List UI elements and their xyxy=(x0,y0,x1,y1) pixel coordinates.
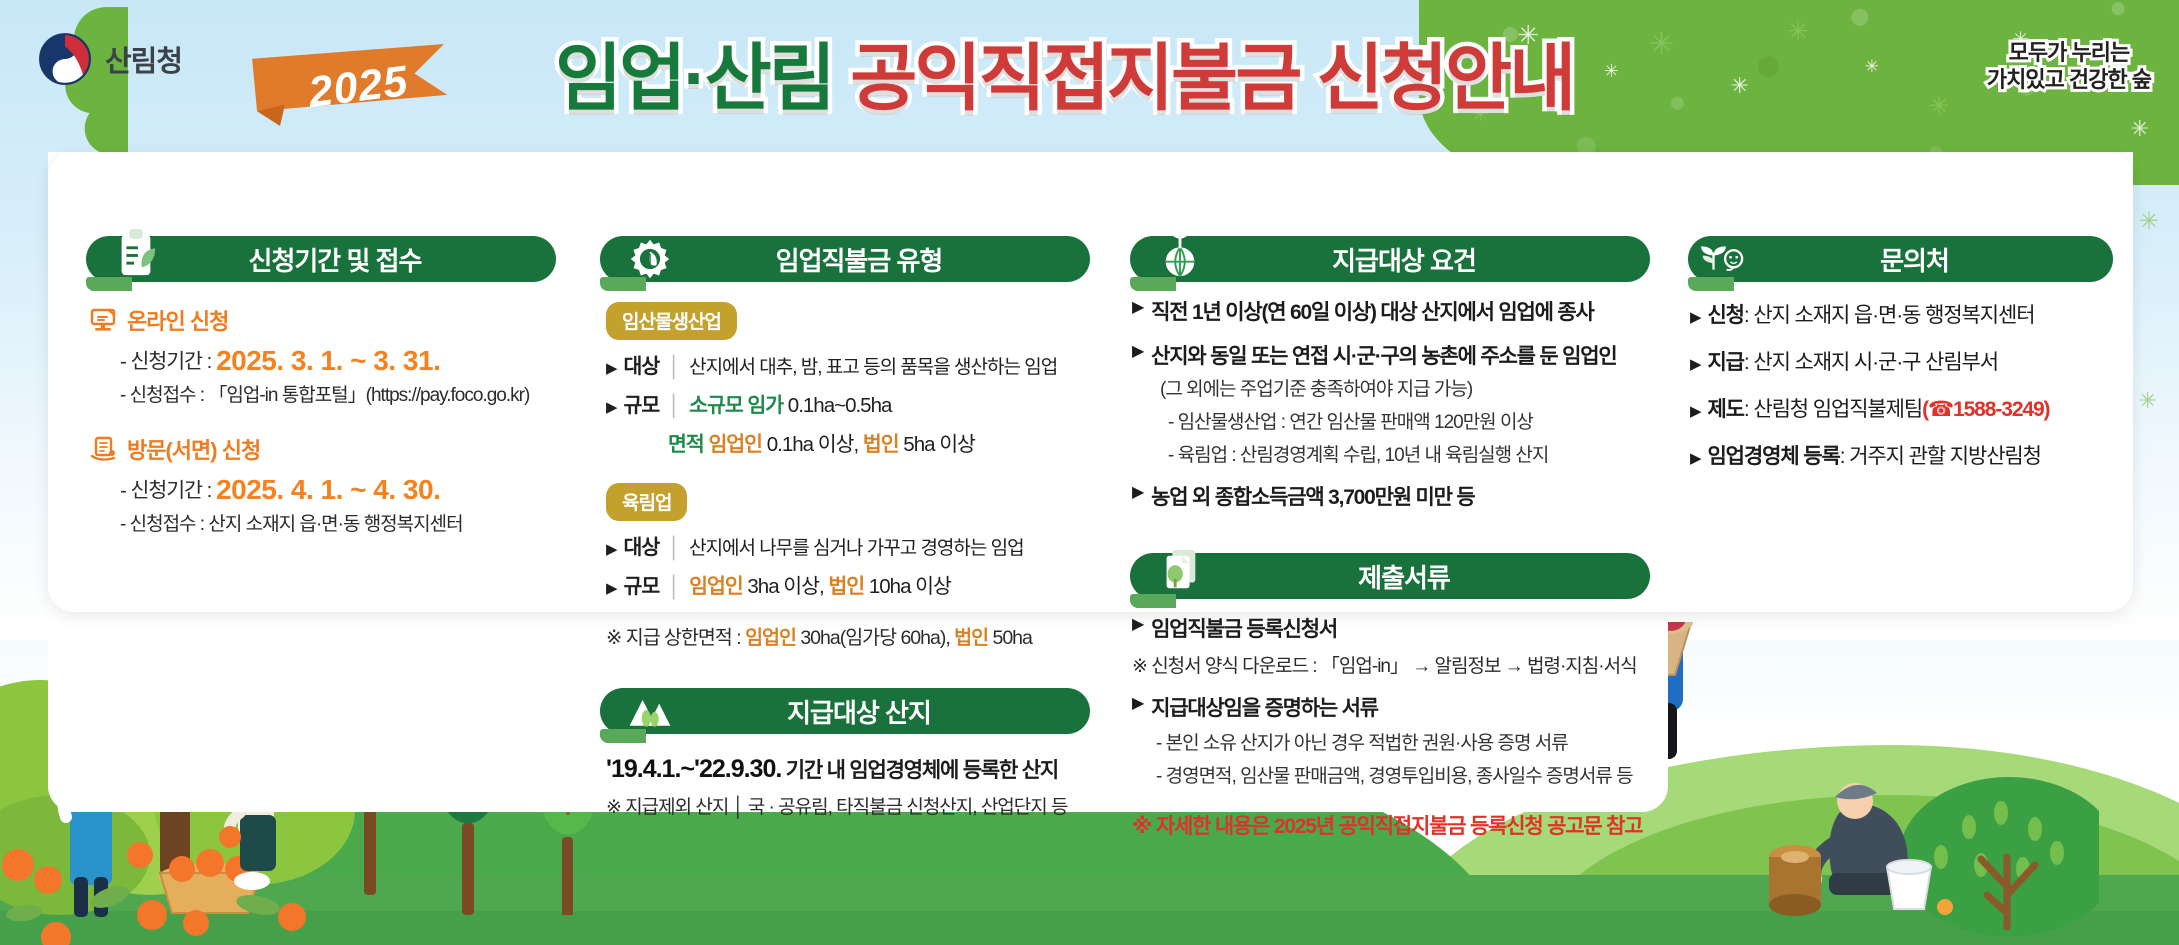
apply-visit-label: 방문(서면) 신청 xyxy=(127,433,260,465)
triangle-bullet-icon: ▶ xyxy=(1690,402,1700,420)
eligibility-item-3-text: 농업 외 종합소득금액 3,700만원 미만 등 xyxy=(1151,481,1474,511)
types-g2-scale-rest2: 10ha 이상 xyxy=(869,569,951,599)
contact-system-phone[interactable]: (☎1588-3249) xyxy=(1922,397,2049,422)
apply-visit-heading: 방문(서면) 신청 xyxy=(90,433,556,465)
section-apply-banner: 신청기간 및 접수 xyxy=(86,236,556,282)
contact-row-apply: ▶ 신청 : 산지 소재지 읍·면·동 행정복지센터 xyxy=(1690,299,2113,329)
banner-tab xyxy=(1130,594,1176,608)
triangle-bullet-icon: ▶ xyxy=(606,540,617,558)
banner-tab xyxy=(86,277,132,291)
types-footnote-prefix: ※ 지급 상한면적 : xyxy=(606,627,741,649)
section-contact-banner: 문의처 xyxy=(1688,236,2113,282)
apply-online-receipt-label: - 신청접수 : xyxy=(120,385,204,406)
eligibility-sub-note: (그 외에는 주업기준 충족하여야 지급 가능) xyxy=(1160,374,1650,401)
types-g2-scale-em1: 임업인 xyxy=(689,569,743,599)
types-g2-target: ▶ 대상 │ 산지에서 나무를 심거나 가꾸고 경영하는 임업 xyxy=(606,530,1090,560)
types-g1-target-value: 산지에서 대추, 밤, 표고 등의 품목을 생산하는 임업 xyxy=(689,352,1057,379)
types-g1-area: 면적 임업인 0.1ha 이상, 법인 5ha 이상 xyxy=(668,427,1090,457)
contact-row-registration: ▶ 임업경영체 등록 : 거주지 관할 지방산림청 xyxy=(1690,440,2113,470)
mountain-trees-icon xyxy=(626,678,674,736)
types-footnote: ※ 지급 상한면적 : 임업인 30ha(임가당 60ha), 법인 50ha xyxy=(606,621,1090,650)
documents-item-1-text: 임업직불금 등록신청서 xyxy=(1151,613,1337,643)
types-g1-scale-em1: 소규모 임가 xyxy=(689,388,783,418)
contact-system-label: 제도 xyxy=(1707,393,1743,423)
log-stump xyxy=(1769,845,1821,916)
eligibility-dash-2: - 육림업 : 산림경영계획 수립, 10년 내 육림실행 산지 xyxy=(1168,440,1650,467)
sprout-headset-icon xyxy=(1698,226,1746,284)
documents-dash-1: - 본인 소유 산지가 아닌 경우 적법한 권원·사용 증명 서류 xyxy=(1156,728,1650,755)
poster-root: ✳ ✳ ✳ ✳ ✳ ✳ ✳ ✳ ✳ ✳ ✳ ✳ ✳ ✳ ✳ ✳ ✳ ✳ xyxy=(0,0,2179,945)
types-g1-scale-label: 규모 xyxy=(624,388,660,418)
eligibility-item-1: ▶ 직전 1년 이상(연 60일 이상) 대상 산지에서 임업에 종사 xyxy=(1132,296,1650,326)
types-g2-target-label: 대상 xyxy=(624,530,660,560)
contact-apply-value: : 산지 소재지 읍·면·동 행정복지센터 xyxy=(1744,299,2035,329)
apply-online-receipt: - 신청접수 : 「임업-in 통합포털」(https://pay.foco.g… xyxy=(120,380,556,407)
contact-row-payment: ▶ 지급 : 산지 소재지 시·군·구 산림부서 xyxy=(1690,346,2113,376)
section-types-banner: 임업직불금 유형 xyxy=(600,236,1090,282)
section-apply-title: 신청기간 및 접수 xyxy=(221,241,422,278)
apply-online-period: - 신청기간 : 2025. 3. 1. ~ 3. 31. xyxy=(120,344,556,377)
triangle-bullet-icon: ▶ xyxy=(1690,449,1700,467)
land-date-tail: 기간 내 임업경영체에 등록한 산지 xyxy=(786,759,1058,782)
documents-item-2-text: 지급대상임을 증명하는 서류 xyxy=(1151,692,1378,722)
eligibility-item-1-text: 직전 1년 이상(연 60일 이상) 대상 산지에서 임업에 종사 xyxy=(1151,296,1594,326)
contact-row-system: ▶ 제도 : 산림청 임업직불제팀 (☎1588-3249) xyxy=(1690,393,2113,423)
eligibility-item-2-text: 산지와 동일 또는 연접 시·군·구의 농촌에 주소를 둔 임업인 xyxy=(1151,340,1616,370)
slogan: 모두가 누리는 가치있고 건강한 숲 xyxy=(1987,40,2151,94)
eligibility-dash-1: - 임산물생산업 : 연간 임산물 판매액 120만원 이상 xyxy=(1168,407,1650,434)
types-g2-scale-label: 규모 xyxy=(624,569,660,599)
section-types: 임업직불금 유형 임산물생산업 ▶ 대상 │ 산지에서 대추, 밤, 표고 등의… xyxy=(600,236,1090,819)
apply-online-period-label: - 신청기간 : xyxy=(120,350,211,373)
contact-registration-label: 임업경영체 등록 xyxy=(1707,440,1839,470)
apply-online-heading: 온라인 신청 xyxy=(90,304,556,336)
eligibility-item-3: ▶ 농업 외 종합소득금액 3,700만원 미만 등 xyxy=(1132,481,1650,511)
triangle-bullet-icon: ▶ xyxy=(606,359,617,377)
types-pill-forest-products: 임산물생산업 xyxy=(606,302,737,340)
contact-payment-value: : 산지 소재지 시·군·구 산림부서 xyxy=(1744,346,1998,376)
types-g1-target: ▶ 대상 │ 산지에서 대추, 밤, 표고 등의 품목을 생산하는 임업 xyxy=(606,349,1090,379)
poster-title: 임업·산림 공익직접지불금 신청안내 xyxy=(555,42,1573,115)
section-eligibility-title: 지급대상 요건 xyxy=(1304,241,1476,278)
types-g1-area-label: 면적 xyxy=(668,427,704,457)
land-date-row: '19.4.1.~'22.9.30. 기간 내 임업경영체에 등록한 산지 xyxy=(606,754,1090,784)
divider: │ xyxy=(668,536,680,560)
triangle-bullet-icon: ▶ xyxy=(606,398,617,416)
section-documents-title: 제출서류 xyxy=(1330,558,1450,595)
globe-sprout-icon xyxy=(1156,226,1204,284)
triangle-bullet-icon: ▶ xyxy=(606,579,617,597)
triangle-bullet-icon: ▶ xyxy=(1132,297,1143,317)
documents-tree-icon xyxy=(1156,543,1204,601)
documents-item-1: ▶ 임업직불금 등록신청서 xyxy=(1132,613,1650,643)
section-apply: 신청기간 및 접수 온라인 신청 - 신청기간 : 2025. 3. 1. ~ … xyxy=(86,236,556,539)
documents-item-1-note: ※ 신청서 양식 다운로드 : 「임업-in」 → 알림정보 → 법령·지침·서… xyxy=(1132,651,1650,678)
triangle-bullet-icon: ▶ xyxy=(1690,355,1700,373)
section-documents-banner: 제출서류 xyxy=(1130,553,1650,599)
agency-logo: 산림청 xyxy=(38,32,182,86)
divider: │ xyxy=(668,394,680,418)
section-land-banner: 지급대상 산지 xyxy=(600,688,1090,734)
agency-name-label: 산림청 xyxy=(105,38,182,80)
types-g1-target-label: 대상 xyxy=(624,349,660,379)
section-contact-title: 문의처 xyxy=(1852,241,1949,278)
section-eligibility-banner: 지급대상 요건 xyxy=(1130,236,1650,282)
gear-leaf-icon xyxy=(626,226,674,284)
types-footnote-em1: 임업인 xyxy=(745,627,796,649)
monitor-online-icon xyxy=(90,307,118,333)
title-green-part: 임업·산림 xyxy=(555,38,833,119)
types-g1-scale: ▶ 규모 │ 소규모 임가 0.1ha~0.5ha xyxy=(606,388,1090,418)
hand-document-icon xyxy=(90,436,118,462)
documents-red-note: ※ 자세한 내용은 2025년 공익직접지불금 등록신청 공고문 참고 xyxy=(1132,810,1650,840)
types-footnote-tail: 50ha xyxy=(992,627,1031,649)
slogan-line-2: 가치있고 건강한 숲 xyxy=(1987,67,2151,94)
ground-item xyxy=(1937,899,1953,915)
types-g1-area-val1: 0.1ha 이상, xyxy=(767,427,858,457)
section-eligibility: 지급대상 요건 ▶ 직전 1년 이상(연 60일 이상) 대상 산지에서 임업에… xyxy=(1130,236,1650,840)
apply-visit-period: - 신청기간 : 2025. 4. 1. ~ 4. 30. xyxy=(120,473,556,506)
divider: │ xyxy=(668,575,680,599)
eligibility-item-2: ▶ 산지와 동일 또는 연접 시·군·구의 농촌에 주소를 둔 임업인 xyxy=(1132,340,1650,370)
contact-registration-value: : 거주지 관할 지방산림청 xyxy=(1840,440,2041,470)
apply-visit-receipt-label: - 신청접수 : xyxy=(120,514,204,535)
types-pill-silviculture: 육림업 xyxy=(606,483,687,521)
documents-dash-2: - 경영면적, 임산물 판매금액, 경영투입비용, 종사일수 증명서류 등 xyxy=(1156,761,1650,788)
year-ribbon: 2025 xyxy=(228,44,478,126)
types-g2-scale-rest1: 3ha 이상, xyxy=(747,569,823,599)
clipboard-leaf-icon xyxy=(112,226,160,284)
apply-visit-period-value: 2025. 4. 1. ~ 4. 30. xyxy=(216,474,440,505)
title-red-part: 공익직접지불금 신청안내 xyxy=(850,38,1573,119)
types-g1-area-val2: 5ha 이상 xyxy=(903,427,975,457)
contact-system-value: : 산림청 임업직불제팀 xyxy=(1744,393,1922,423)
apply-visit-receipt: - 신청접수 : 산지 소재지 읍·면·동 행정복지센터 xyxy=(120,509,556,536)
triangle-bullet-icon: ▶ xyxy=(1132,614,1143,634)
apply-online-receipt-value: 「임업-in 통합포털」(https://pay.foco.go.kr) xyxy=(208,385,529,406)
white-bucket xyxy=(1887,860,1931,909)
apply-visit-receipt-value: 산지 소재지 읍·면·동 행정복지센터 xyxy=(208,514,462,535)
divider: │ xyxy=(668,355,680,379)
banner-tab xyxy=(600,277,646,291)
section-documents: 제출서류 ▶ 임업직불금 등록신청서 ※ 신청서 양식 다운로드 : 「임업-i… xyxy=(1130,553,1650,840)
triangle-bullet-icon: ▶ xyxy=(1690,308,1700,326)
apply-visit-period-label: - 신청기간 : xyxy=(120,479,211,502)
slogan-line-1: 모두가 누리는 xyxy=(1987,40,2151,67)
types-footnote-em2: 법인 xyxy=(954,627,988,649)
korea-government-taegeuk-icon xyxy=(38,32,92,86)
banner-tab xyxy=(1688,277,1734,291)
types-footnote-mid: 30ha(임가당 60ha), xyxy=(800,627,949,649)
land-date-range: '19.4.1.~'22.9.30. xyxy=(606,755,781,783)
documents-item-2: ▶ 지급대상임을 증명하는 서류 xyxy=(1132,692,1650,722)
contact-payment-label: 지급 xyxy=(1707,346,1743,376)
types-g2-scale: ▶ 규모 │ 임업인 3ha 이상, 법인 10ha 이상 xyxy=(606,569,1090,599)
section-types-title: 임업직불금 유형 xyxy=(748,241,943,278)
triangle-bullet-icon: ▶ xyxy=(1132,482,1143,502)
types-g1-scale-rest1: 0.1ha~0.5ha xyxy=(788,394,892,418)
land-exclusion: ※ 지급제외 산지 │ 국 · 공유림, 타직불금 신청산지, 산업단지 등 xyxy=(606,792,1090,819)
banner-tab xyxy=(600,729,646,743)
triangle-bullet-icon: ▶ xyxy=(1132,693,1143,713)
contact-apply-label: 신청 xyxy=(1707,299,1743,329)
section-contact: 문의처 ▶ 신청 : 산지 소재지 읍·면·동 행정복지센터 ▶ 지급 : 산지… xyxy=(1688,236,2113,470)
types-g1-area-em-corp: 법인 xyxy=(863,427,899,457)
types-g2-scale-em2: 법인 xyxy=(828,569,864,599)
banner-tab xyxy=(1130,277,1176,291)
apply-online-label: 온라인 신청 xyxy=(127,304,228,336)
triangle-bullet-icon: ▶ xyxy=(1132,341,1143,361)
types-g1-area-em-person: 임업인 xyxy=(708,427,762,457)
section-land-title: 지급대상 산지 xyxy=(759,693,931,730)
foragers-illustration xyxy=(1769,717,2099,937)
apply-online-period-value: 2025. 3. 1. ~ 3. 31. xyxy=(216,345,440,376)
types-g2-target-value: 산지에서 나무를 심거나 가꾸고 경영하는 임업 xyxy=(689,533,1024,560)
